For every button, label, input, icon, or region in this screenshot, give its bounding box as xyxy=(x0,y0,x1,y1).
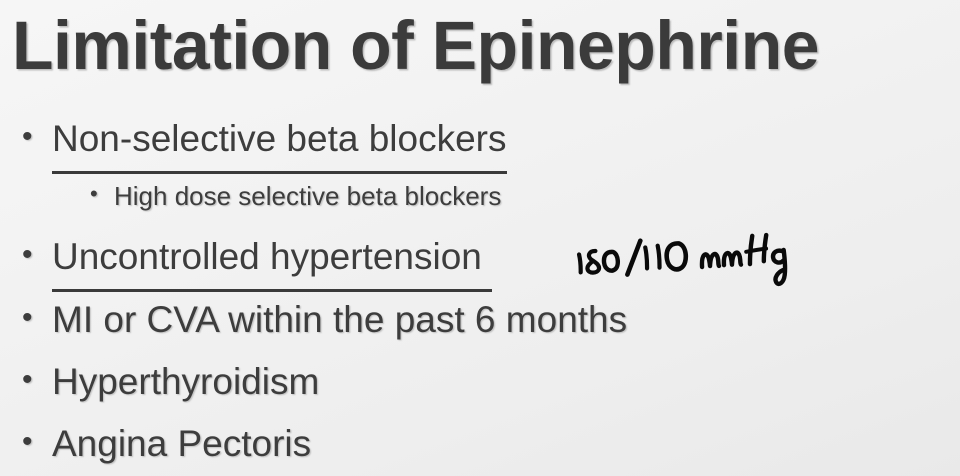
list-item-label: Hyperthyroidism xyxy=(52,351,319,413)
bullet-point-icon: • xyxy=(22,303,52,333)
list-item-label: Uncontrolled hypertension xyxy=(52,226,492,292)
list-item: • Angina Pectoris xyxy=(0,413,960,475)
list-item-label: High dose selective beta blockers xyxy=(114,172,501,220)
bullet-list: • Non-selective beta blockers • High dos… xyxy=(0,108,960,475)
list-item: • MI or CVA within the past 6 months xyxy=(0,289,960,351)
bullet-point-icon: • xyxy=(22,240,52,270)
list-item: • High dose selective beta blockers xyxy=(0,172,960,220)
presentation-slide: Limitation of Epinephrine • Non-selectiv… xyxy=(0,0,960,476)
bullet-point-icon: • xyxy=(90,183,114,205)
list-item: • Non-selective beta blockers xyxy=(0,108,960,170)
bullet-point-icon: • xyxy=(22,365,52,395)
bullet-point-icon: • xyxy=(22,122,52,152)
page-title: Limitation of Epinephrine xyxy=(12,4,938,88)
list-item: • Uncontrolled hypertension xyxy=(0,226,960,288)
list-item-label: Non-selective beta blockers xyxy=(52,108,507,174)
bullet-point-icon: • xyxy=(22,427,52,457)
list-item-label: Angina Pectoris xyxy=(52,413,311,475)
list-item: • Hyperthyroidism xyxy=(0,351,960,413)
list-item-label: MI or CVA within the past 6 months xyxy=(52,289,627,351)
